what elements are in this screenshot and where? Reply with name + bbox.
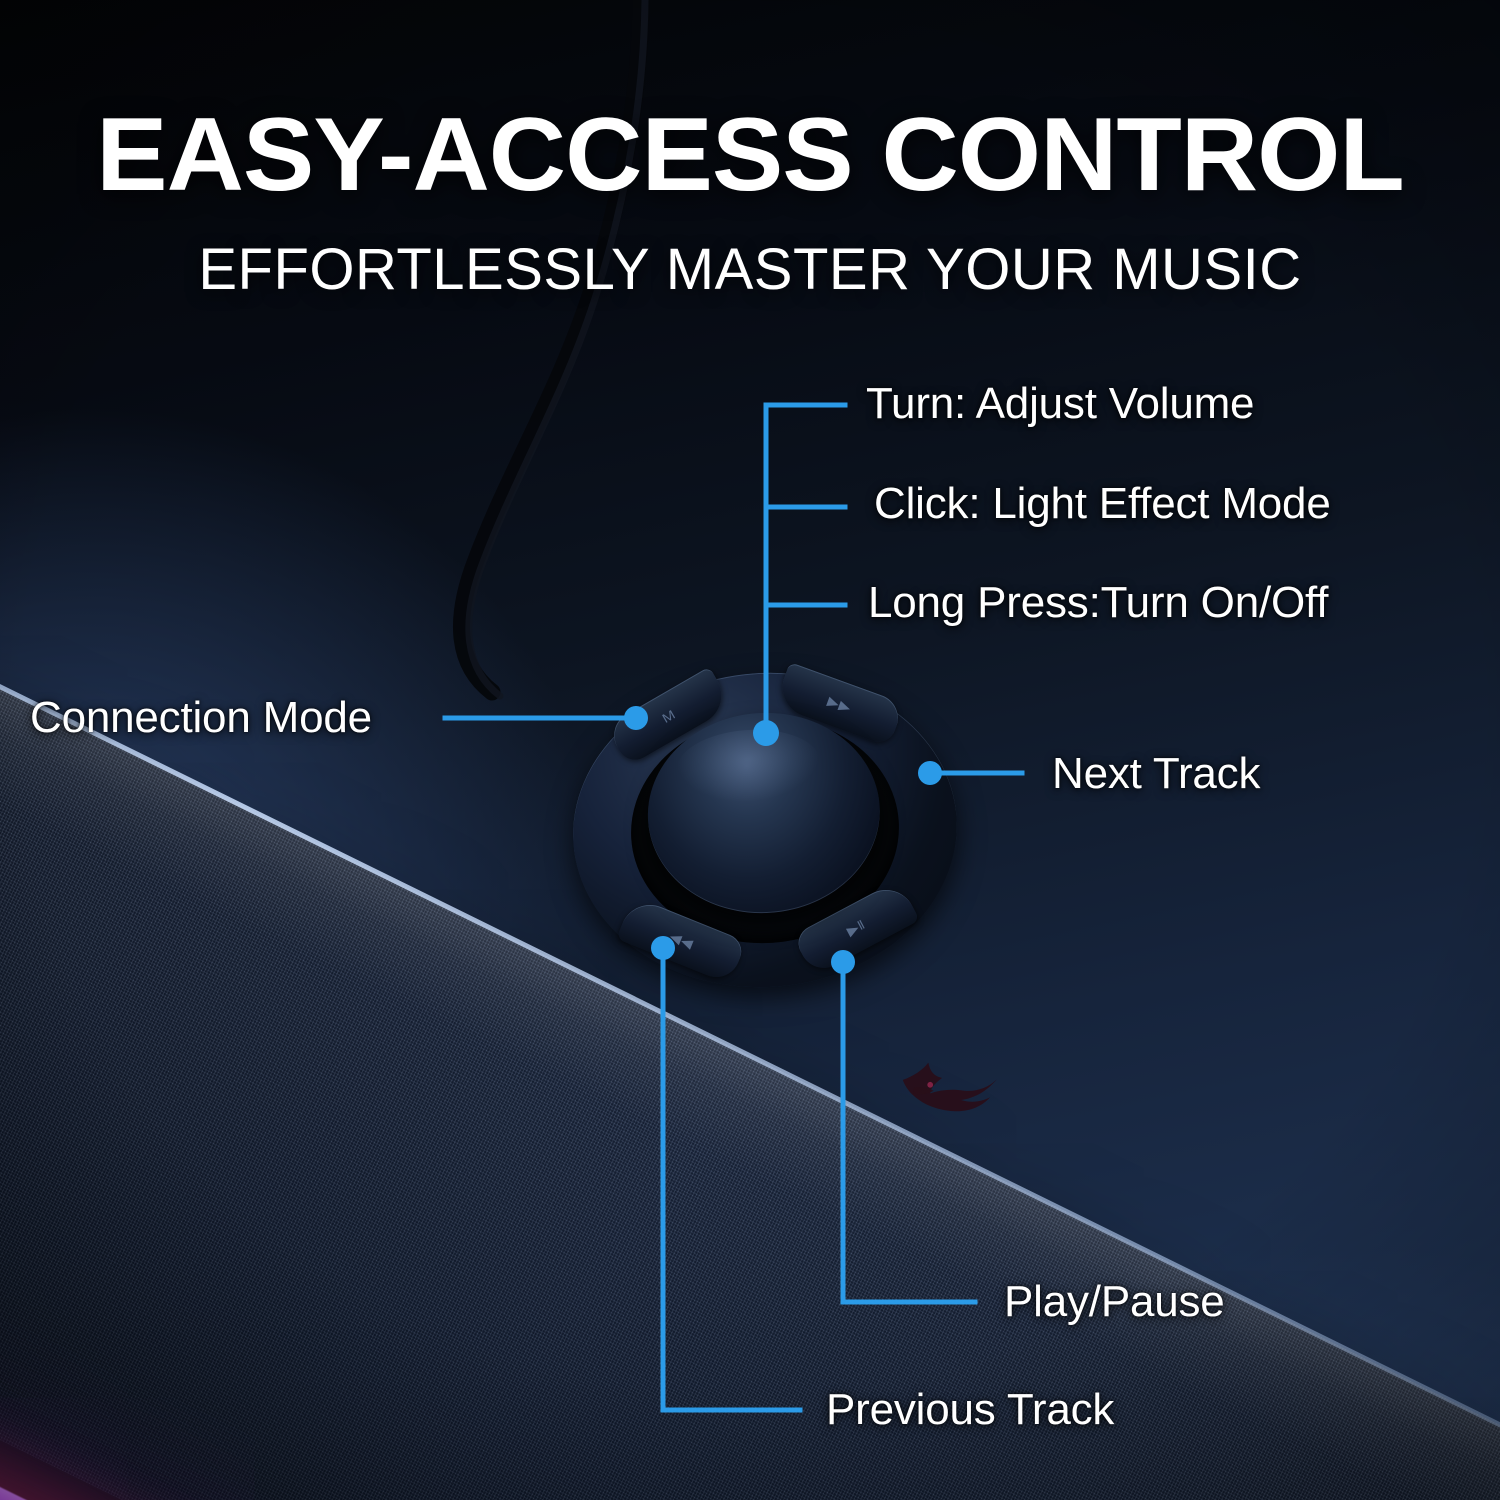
callout-long-press-power: Long Press:Turn On/Off bbox=[868, 581, 1328, 625]
control-knob-assembly[interactable]: M ▶▶ ◀◀ ▶‖ bbox=[554, 651, 976, 1008]
next-track-glyph: ▶▶ bbox=[825, 693, 853, 716]
product-feature-image: M ▶▶ ◀◀ ▶‖ bbox=[0, 0, 1500, 1500]
dragon-logo-icon bbox=[884, 1023, 1008, 1143]
callout-turn-adjust-volume: Turn: Adjust Volume bbox=[866, 382, 1254, 426]
callout-connection-mode: Connection Mode bbox=[30, 696, 372, 740]
previous-track-glyph: ◀◀ bbox=[667, 928, 695, 951]
callout-play-pause: Play/Pause bbox=[1004, 1280, 1225, 1324]
callout-previous-track: Previous Track bbox=[826, 1388, 1114, 1432]
callout-click-light-effect: Click: Light Effect Mode bbox=[874, 482, 1331, 526]
mode-glyph: M bbox=[660, 707, 678, 726]
speaker-fabric-grille bbox=[0, 500, 1500, 1500]
play-pause-glyph: ▶‖ bbox=[844, 917, 868, 939]
page-subtitle: EFFORTLESSLY MASTER YOUR MUSIC bbox=[0, 236, 1500, 303]
page-title: EASY-ACCESS CONTROL bbox=[0, 96, 1500, 215]
callout-next-track: Next Track bbox=[1052, 752, 1260, 796]
